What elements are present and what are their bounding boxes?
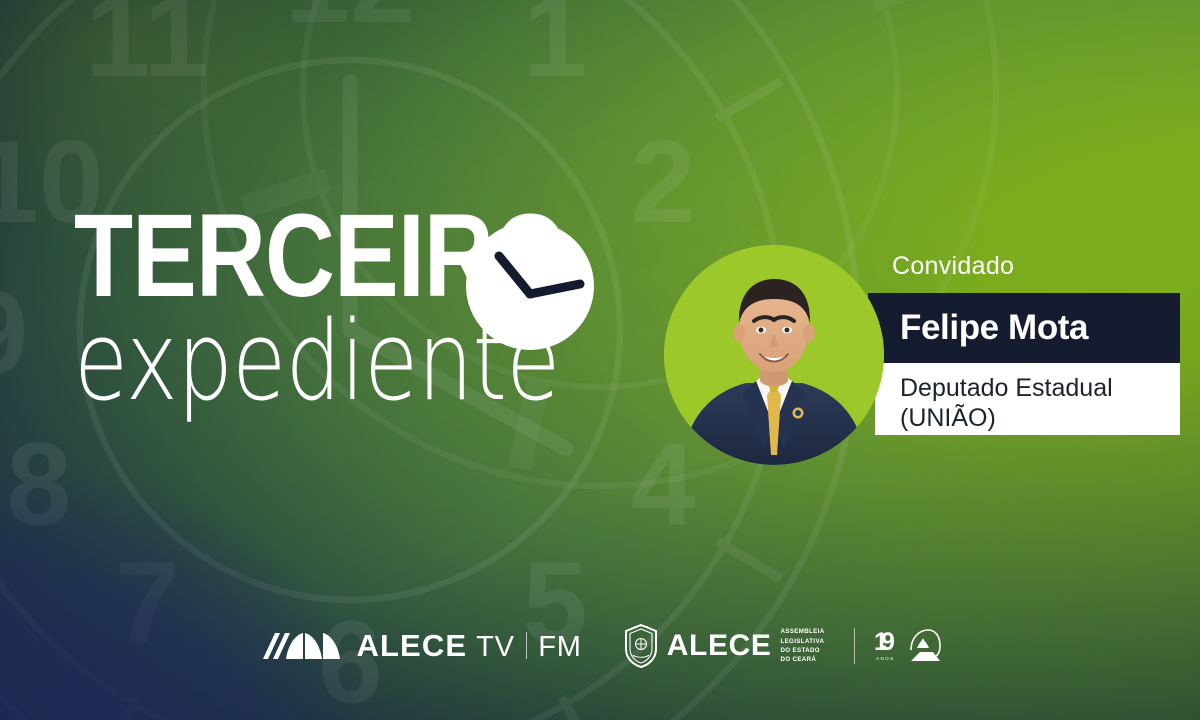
svg-text:ANOS: ANOS xyxy=(876,656,895,661)
desc-line-4: DO CEARÁ xyxy=(780,656,816,663)
guest-role-line1: Deputado Estadual xyxy=(900,374,1113,402)
alece-tv-brand: ALECE xyxy=(357,628,468,664)
guest-label: Convidado xyxy=(892,252,1014,281)
broadcast-lower-third-graphic: 12 1 2 3 4 5 6 7 8 9 10 11 xyxy=(0,0,1200,720)
anniversary-190-anos-icon: 1 9 ANOS xyxy=(873,624,941,668)
guest-role: Deputado Estadual (UNIÃO) xyxy=(900,374,1113,433)
logo-divider xyxy=(854,628,855,664)
program-title-line2: expediente xyxy=(74,311,506,412)
avatar xyxy=(664,245,884,465)
guest-name-bar: Felipe Mota xyxy=(868,293,1180,363)
guest-block: Convidado Felipe Mota Deputado Estadual … xyxy=(650,235,1195,485)
alece-tv-fm-logo: ALECE TV FM xyxy=(259,627,582,665)
channel-fm-label: FM xyxy=(538,631,581,664)
guest-role-line2: (UNIÃO) xyxy=(900,404,996,432)
channel-tv-label: TV xyxy=(476,631,515,664)
guest-role-bar: Deputado Estadual (UNIÃO) xyxy=(875,363,1180,435)
guest-name: Felipe Mota xyxy=(900,308,1088,348)
channel-separator xyxy=(526,632,528,659)
alece-institutional-logo: ALECE ASSEMBLEIA LEGISLATIVA DO ESTADO D… xyxy=(624,624,942,668)
alece-tv-mark-icon xyxy=(259,627,345,665)
footer-logos: ALECE TV FM ALECE ASSEMBLEIA L xyxy=(0,618,1200,674)
alece-tv-fm-wordmark: ALECE TV FM xyxy=(357,628,582,664)
clock-icon xyxy=(466,222,594,350)
desc-line-2: LEGISLATIVA xyxy=(780,638,824,645)
ceara-state-crest-icon xyxy=(624,624,658,668)
svg-text:9: 9 xyxy=(881,628,895,656)
alece-institution-brand: ALECE xyxy=(667,629,772,663)
desc-line-3: DO ESTADO xyxy=(780,647,819,654)
desc-line-1: ASSEMBLEIA xyxy=(780,628,824,635)
alece-institution-description: ASSEMBLEIA LEGISLATIVA DO ESTADO DO CEAR… xyxy=(780,627,836,664)
